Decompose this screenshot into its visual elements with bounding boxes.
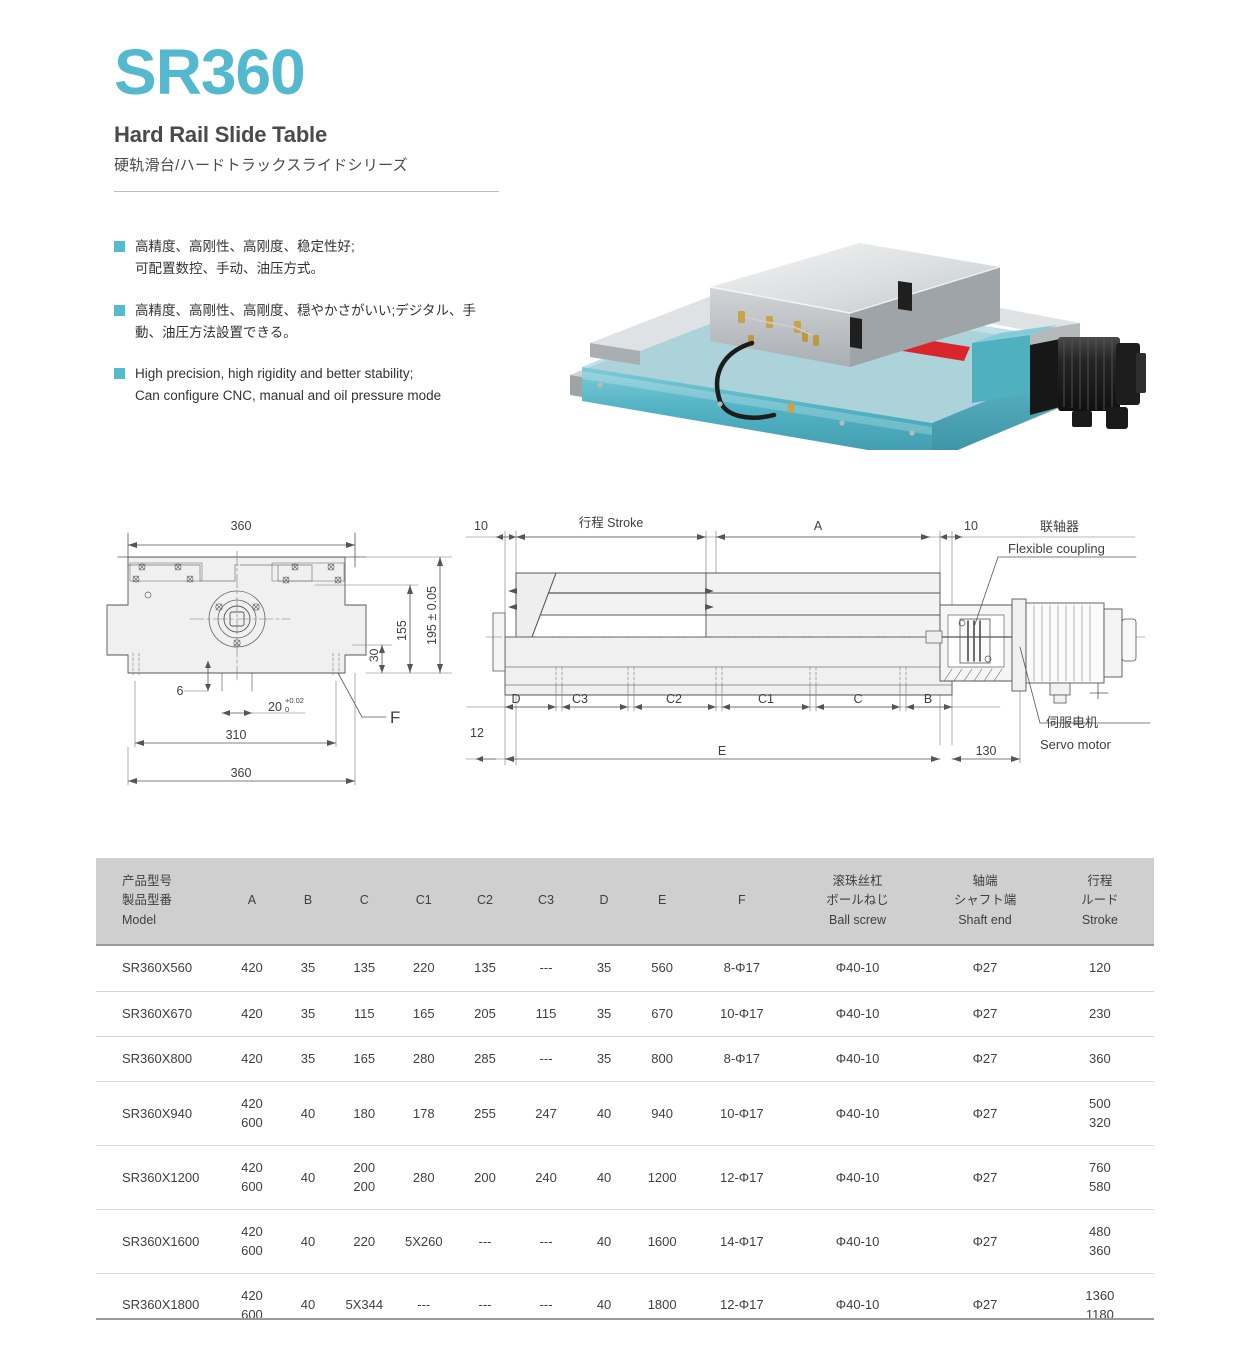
table-bottom-rule: [96, 1318, 1154, 1320]
cell-f: 12-Φ17: [693, 1146, 791, 1210]
dim-label-f: F: [390, 708, 400, 727]
column-header-shaft-end: 轴端 シャフト端 Shaft end: [924, 858, 1046, 945]
list-item: High precision, high rigidity and better…: [114, 363, 514, 407]
cell-d: 35: [577, 991, 632, 1036]
column-header-f: F: [693, 858, 791, 945]
product-photo-illustration: [560, 225, 1150, 450]
cell-ball-screw: Φ40-10: [791, 1037, 924, 1082]
feature-list: 高精度、高刚性、高刚度、稳定性好; 可配置数控、手动、油压方式。 高精度、高剛性…: [114, 236, 514, 427]
specification-table: 产品型号 製品型番 Model A B C C1 C2 C3 D E F 滚珠丝…: [96, 858, 1154, 1337]
cell-c1: 220: [393, 945, 454, 991]
cell-model: SR360X1800: [96, 1274, 223, 1337]
cell-b: 40: [281, 1274, 336, 1337]
column-header-a: A: [223, 858, 280, 945]
cell-f: 10-Φ17: [693, 991, 791, 1036]
table-header-row: 产品型号 製品型番 Model A B C C1 C2 C3 D E F 滚珠丝…: [96, 858, 1154, 945]
cell-shaft-end: Φ27: [924, 1037, 1046, 1082]
drawings-svg: 360 360 310 6 20 +0.02 0 30 155 195 ± 0.…: [0, 495, 1240, 825]
cell-c1: 165: [393, 991, 454, 1036]
square-bullet-icon: [114, 368, 125, 379]
cell-c3: ---: [516, 1210, 577, 1274]
feature-text: 高精度、高剛性、高剛度、穏やかさがいい;デジタル、手 動、油圧方法設置できる。: [135, 300, 476, 344]
cell-a: 420: [223, 1037, 280, 1082]
column-header-d: D: [577, 858, 632, 945]
cell-c1: 280: [393, 1037, 454, 1082]
column-header-stroke: 行程 ルード Stroke: [1046, 858, 1154, 945]
cell-model: SR360X940: [96, 1082, 223, 1146]
cell-d: 40: [577, 1274, 632, 1337]
dim-label-310: 310: [226, 728, 247, 742]
cell-a: 420 600: [223, 1210, 280, 1274]
list-item: 高精度、高剛性、高剛度、穏やかさがいい;デジタル、手 動、油圧方法設置できる。: [114, 300, 514, 344]
cell-shaft-end: Φ27: [924, 1146, 1046, 1210]
table-row: SR360X800 420 35 165 280 285 --- 35 800 …: [96, 1037, 1154, 1082]
cell-c: 135: [336, 945, 394, 991]
dim-label-c3: C3: [572, 692, 588, 706]
cell-c3: 247: [516, 1082, 577, 1146]
cell-d: 40: [577, 1210, 632, 1274]
cell-c: 200 200: [336, 1146, 394, 1210]
cell-shaft-end: Φ27: [924, 991, 1046, 1036]
cell-c: 115: [336, 991, 394, 1036]
cell-b: 35: [281, 991, 336, 1036]
product-photo: [560, 225, 1150, 450]
cell-c1: ---: [393, 1274, 454, 1337]
cell-c3: ---: [516, 1037, 577, 1082]
dim-label-360-bottom: 360: [231, 766, 252, 780]
cell-ball-screw: Φ40-10: [791, 945, 924, 991]
cell-model: SR360X1600: [96, 1210, 223, 1274]
column-header-c: C: [336, 858, 394, 945]
cell-e: 1800: [632, 1274, 693, 1337]
dim-label-stroke: 行程 Stroke: [579, 515, 644, 530]
dim-label-10-left: 10: [474, 519, 488, 533]
dim-label-12: 12: [470, 726, 484, 740]
cell-c1: 178: [393, 1082, 454, 1146]
cell-c2: 255: [455, 1082, 516, 1146]
cell-f: 10-Φ17: [693, 1082, 791, 1146]
cell-model: SR360X1200: [96, 1146, 223, 1210]
cell-c: 220: [336, 1210, 394, 1274]
square-bullet-icon: [114, 241, 125, 252]
cell-stroke: 1360 1180: [1046, 1274, 1154, 1337]
cell-a: 420: [223, 991, 280, 1036]
cell-stroke: 500 320: [1046, 1082, 1154, 1146]
cell-e: 1200: [632, 1146, 693, 1210]
product-title: SR360: [114, 40, 544, 104]
technical-drawings: 360 360 310 6 20 +0.02 0 30 155 195 ± 0.…: [0, 495, 1240, 825]
cell-stroke: 760 580: [1046, 1146, 1154, 1210]
dim-label-30: 30: [367, 648, 381, 662]
cell-shaft-end: Φ27: [924, 1210, 1046, 1274]
dim-label-10-right: 10: [964, 519, 978, 533]
cell-stroke: 480 360: [1046, 1210, 1154, 1274]
cell-a: 420: [223, 945, 280, 991]
square-bullet-icon: [114, 305, 125, 316]
cell-b: 35: [281, 945, 336, 991]
column-header-c2: C2: [455, 858, 516, 945]
cell-c3: ---: [516, 1274, 577, 1337]
cell-d: 40: [577, 1082, 632, 1146]
dim-label-6: 6: [177, 684, 184, 698]
dim-label-155: 155: [395, 620, 409, 641]
page-header: SR360 Hard Rail Slide Table 硬轨滑台/ハードトラック…: [114, 40, 544, 192]
cell-a: 420 600: [223, 1082, 280, 1146]
cell-d: 35: [577, 945, 632, 991]
cell-c1: 5X260: [393, 1210, 454, 1274]
dim-label-130: 130: [976, 744, 997, 758]
cell-model: SR360X670: [96, 991, 223, 1036]
cell-c2: ---: [455, 1210, 516, 1274]
cell-e: 560: [632, 945, 693, 991]
cell-c3: 115: [516, 991, 577, 1036]
cell-e: 800: [632, 1037, 693, 1082]
table-row: SR360X940 420 600 40 180 178 255 247 40 …: [96, 1082, 1154, 1146]
cell-model: SR360X800: [96, 1037, 223, 1082]
cell-c: 165: [336, 1037, 394, 1082]
header-divider: [114, 191, 499, 192]
cell-d: 35: [577, 1037, 632, 1082]
column-header-e: E: [632, 858, 693, 945]
dim-label-a: A: [814, 519, 823, 533]
column-header-c3: C3: [516, 858, 577, 945]
cell-a: 420 600: [223, 1274, 280, 1337]
table-row: SR360X1800 420 600 40 5X344 --- --- --- …: [96, 1274, 1154, 1337]
cell-e: 1600: [632, 1210, 693, 1274]
column-header-model: 产品型号 製品型番 Model: [96, 858, 223, 945]
cell-e: 940: [632, 1082, 693, 1146]
cell-c3: 240: [516, 1146, 577, 1210]
column-header-ball-screw: 滚珠丝杠 ボールねじ Ball screw: [791, 858, 924, 945]
cell-c2: 135: [455, 945, 516, 991]
cell-stroke: 230: [1046, 991, 1154, 1036]
cell-c2: 205: [455, 991, 516, 1036]
column-header-b: B: [281, 858, 336, 945]
subtitle-cjk: 硬轨滑台/ハードトラックスライドシリーズ: [114, 154, 544, 175]
table-row: SR360X1200 420 600 40 200 200 280 200 24…: [96, 1146, 1154, 1210]
callout-coupling-cjk: 联轴器: [1040, 519, 1079, 534]
dim-label-c2: C2: [666, 692, 682, 706]
cell-f: 14-Φ17: [693, 1210, 791, 1274]
cell-c2: 200: [455, 1146, 516, 1210]
cell-ball-screw: Φ40-10: [791, 991, 924, 1036]
cell-c3: ---: [516, 945, 577, 991]
table-row: SR360X1600 420 600 40 220 5X260 --- --- …: [96, 1210, 1154, 1274]
cell-b: 40: [281, 1210, 336, 1274]
feature-text: High precision, high rigidity and better…: [135, 363, 441, 407]
cell-c1: 280: [393, 1146, 454, 1210]
cell-e: 670: [632, 991, 693, 1036]
column-header-c1: C1: [393, 858, 454, 945]
cell-c2: ---: [455, 1274, 516, 1337]
dim-label-20-base: 20: [268, 700, 282, 714]
cell-c: 180: [336, 1082, 394, 1146]
cell-c: 5X344: [336, 1274, 394, 1337]
cell-b: 40: [281, 1146, 336, 1210]
front-view: [107, 533, 452, 825]
callout-motor-cjk: 伺服电机: [1046, 715, 1098, 730]
list-item: 高精度、高刚性、高刚度、稳定性好; 可配置数控、手动、油压方式。: [114, 236, 514, 280]
cell-d: 40: [577, 1146, 632, 1210]
dim-label-d: D: [511, 692, 520, 706]
cell-c2: 285: [455, 1037, 516, 1082]
cell-f: 12-Φ17: [693, 1274, 791, 1337]
cell-b: 40: [281, 1082, 336, 1146]
dim-label-e: E: [718, 744, 726, 758]
dim-label-195: 195 ± 0.05: [425, 586, 439, 645]
feature-text: 高精度、高刚性、高刚度、稳定性好; 可配置数控、手动、油压方式。: [135, 236, 355, 280]
cell-ball-screw: Φ40-10: [791, 1274, 924, 1337]
cell-f: 8-Φ17: [693, 1037, 791, 1082]
cell-b: 35: [281, 1037, 336, 1082]
cell-stroke: 360: [1046, 1037, 1154, 1082]
cell-f: 8-Φ17: [693, 945, 791, 991]
subtitle-english: Hard Rail Slide Table: [114, 122, 544, 148]
cell-ball-screw: Φ40-10: [791, 1082, 924, 1146]
dim-label-20-sub: 0: [285, 705, 289, 714]
dim-label-c: C: [853, 692, 862, 706]
table-row: SR360X670 420 35 115 165 205 115 35 670 …: [96, 991, 1154, 1036]
cell-shaft-end: Φ27: [924, 945, 1046, 991]
callout-motor-en: Servo motor: [1040, 737, 1111, 752]
cell-shaft-end: Φ27: [924, 1082, 1046, 1146]
dim-label-360-top: 360: [231, 519, 252, 533]
cell-model: SR360X560: [96, 945, 223, 991]
callout-coupling-en: Flexible coupling: [1008, 541, 1105, 556]
cell-stroke: 120: [1046, 945, 1154, 991]
cell-ball-screw: Φ40-10: [791, 1146, 924, 1210]
dim-label-b: B: [924, 692, 932, 706]
cell-ball-screw: Φ40-10: [791, 1210, 924, 1274]
dim-label-20-sup: +0.02: [285, 696, 304, 705]
table-row: SR360X560 420 35 135 220 135 --- 35 560 …: [96, 945, 1154, 991]
cell-a: 420 600: [223, 1146, 280, 1210]
dim-label-c1: C1: [758, 692, 774, 706]
cell-shaft-end: Φ27: [924, 1274, 1046, 1337]
